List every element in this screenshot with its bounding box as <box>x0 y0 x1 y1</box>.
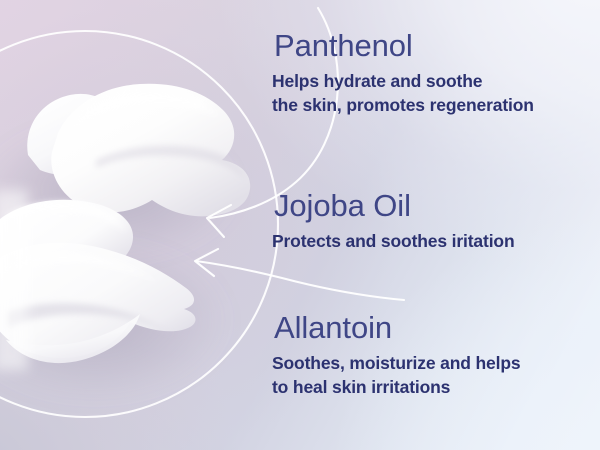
description-line: Soothes, moisturize and helps <box>272 351 592 375</box>
ingredient-poster: Panthenol Helps hydrate and soothe the s… <box>0 0 600 450</box>
ingredient-description-allantoin: Soothes, moisturize and helps to heal sk… <box>272 351 592 399</box>
description-line: the skin, promotes regeneration <box>272 93 592 117</box>
ingredient-block-panthenol: Panthenol Helps hydrate and soothe the s… <box>272 28 592 117</box>
ingredient-name-allantoin: Allantoin <box>274 310 592 346</box>
description-line: Helps hydrate and soothe <box>272 69 592 93</box>
description-line: to heal skin irritations <box>272 375 592 399</box>
ingredient-description-jojoba-oil: Protects and soothes iritation <box>272 229 592 253</box>
ingredient-name-jojoba-oil: Jojoba Oil <box>274 188 592 224</box>
ingredient-name-panthenol: Panthenol <box>274 28 592 64</box>
ingredient-text-column: Panthenol Helps hydrate and soothe the s… <box>0 0 600 450</box>
ingredient-description-panthenol: Helps hydrate and soothe the skin, promo… <box>272 69 592 117</box>
description-line: Protects and soothes iritation <box>272 229 592 253</box>
ingredient-block-jojoba-oil: Jojoba Oil Protects and soothes iritatio… <box>272 188 592 253</box>
ingredient-block-allantoin: Allantoin Soothes, moisturize and helps … <box>272 310 592 399</box>
